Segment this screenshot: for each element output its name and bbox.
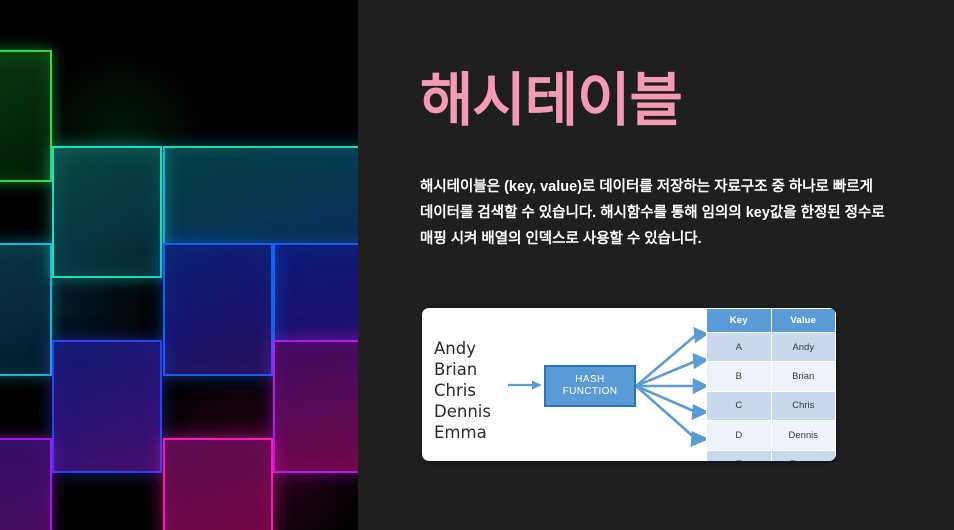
neon-tile-violet-2: [0, 438, 52, 530]
table-row: D Dennis: [707, 421, 836, 450]
cell-key: C: [707, 391, 772, 420]
cell-value: Andy: [771, 333, 836, 362]
cell-value: Brian: [771, 362, 836, 391]
neon-tile-blue: [163, 243, 273, 376]
neon-tile-magenta: [163, 438, 273, 530]
cell-value: Emma: [771, 450, 836, 461]
cell-value: Chris: [771, 391, 836, 420]
hash-function-box: HASH FUNCTION: [544, 365, 636, 407]
input-name: Chris: [434, 380, 491, 401]
neon-tile-purple: [273, 340, 358, 473]
input-name: Brian: [434, 359, 491, 380]
cell-key: E: [707, 450, 772, 461]
hash-table-diagram: Andy Brian Chris Dennis Emma HASH FUNCTI…: [422, 308, 836, 461]
hero-image: [0, 0, 358, 530]
page-title: 해시테이블: [420, 72, 682, 130]
slide-page: 해시테이블 해시테이블은 (key, value)로 데이터를 저장하는 자료구…: [0, 0, 954, 530]
input-name: Dennis: [434, 401, 491, 422]
table-row: A Andy: [707, 333, 836, 362]
neon-tile-teal: [52, 146, 162, 278]
content-panel: 해시테이블 해시테이블은 (key, value)로 데이터를 저장하는 자료구…: [358, 0, 954, 530]
column-header-key: Key: [707, 309, 772, 333]
body-paragraph: 해시테이블은 (key, value)로 데이터를 저장하는 자료구조 중 하나…: [420, 174, 890, 252]
neon-tile-green: [0, 50, 52, 182]
cell-key: A: [707, 333, 772, 362]
neon-tile-violet: [52, 340, 162, 473]
neon-tile-teal-2: [0, 243, 52, 376]
table-row: E Emma: [707, 450, 836, 461]
table-header-row: Key Value: [707, 309, 836, 333]
hash-output-arrows: [636, 322, 708, 448]
cell-key: D: [707, 421, 772, 450]
key-value-table: Key Value A Andy B Brian: [706, 308, 836, 461]
table-row: B Brian: [707, 362, 836, 391]
input-arrow-icon: [508, 380, 542, 390]
table-row: C Chris: [707, 391, 836, 420]
cell-key: B: [707, 362, 772, 391]
cell-value: Dennis: [771, 421, 836, 450]
column-header-value: Value: [771, 309, 836, 333]
hash-box-line-2: FUNCTION: [563, 386, 618, 399]
diagram-inner: Andy Brian Chris Dennis Emma HASH FUNCTI…: [422, 308, 836, 461]
hash-box-line-1: HASH: [575, 374, 604, 387]
input-name: Andy: [434, 338, 491, 359]
input-name: Emma: [434, 422, 491, 443]
input-name-list: Andy Brian Chris Dennis Emma: [434, 338, 491, 444]
